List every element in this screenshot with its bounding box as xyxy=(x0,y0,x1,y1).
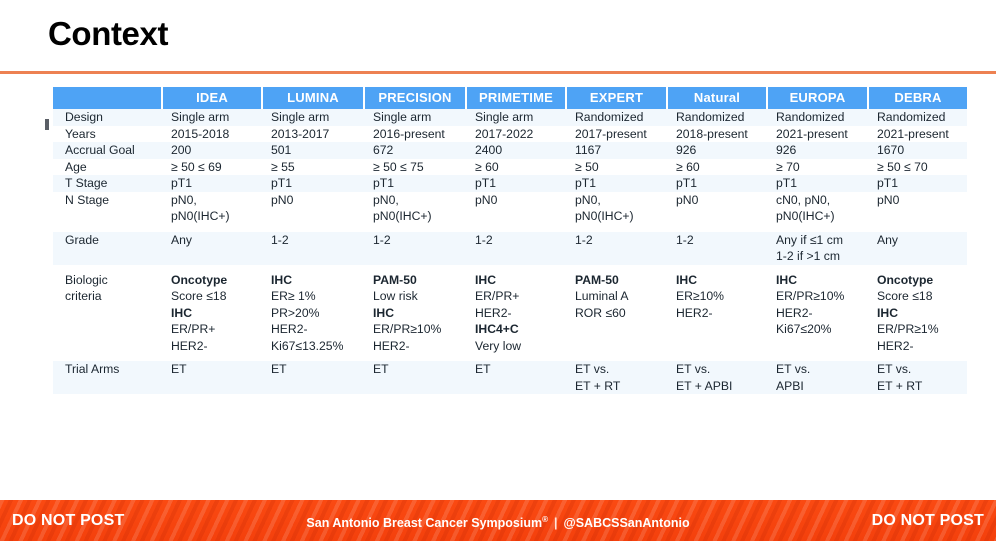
table-row: N StagepN0,pN0(IHC+)pN0pN0,pN0(IHC+)pN0p… xyxy=(53,192,967,225)
column-header-europa[interactable]: EUROPA xyxy=(768,87,869,109)
column-header-idea[interactable]: IDEA xyxy=(163,87,263,109)
spacer-cell xyxy=(53,265,967,272)
cell-grade-lumina: 1-2 xyxy=(263,232,365,265)
cell-years-expert: 2017-present xyxy=(567,126,668,143)
cell-biologic-criteria-debra: OncotypeScore ≤18IHCER/PR≥1%HER2- xyxy=(869,272,967,355)
cell-t-stage-lumina: pT1 xyxy=(263,175,365,192)
cell-trial-arms-primetime: ET xyxy=(467,361,567,394)
context-table-container: IDEA LUMINA PRECISION PRIMETIME EXPERT N… xyxy=(53,87,943,394)
cell-n-stage-precision: pN0,pN0(IHC+) xyxy=(365,192,467,225)
cell-trial-arms-debra: ET vs.ET + RT xyxy=(869,361,967,394)
title-divider xyxy=(0,71,996,74)
cell-n-stage-natural: pN0 xyxy=(668,192,768,225)
column-header-expert[interactable]: EXPERT xyxy=(567,87,668,109)
cell-years-idea: 2015-2018 xyxy=(163,126,263,143)
table-row: T StagepT1pT1pT1pT1pT1pT1pT1pT1 xyxy=(53,175,967,192)
footer-bar: DO NOT POST San Antonio Breast Cancer Sy… xyxy=(0,500,996,541)
cell-age-precision: ≥ 50 ≤ 75 xyxy=(365,159,467,176)
column-header-lumina[interactable]: LUMINA xyxy=(263,87,365,109)
cell-n-stage-idea: pN0,pN0(IHC+) xyxy=(163,192,263,225)
column-header-primetime[interactable]: PRIMETIME xyxy=(467,87,567,109)
cell-design-lumina: Single arm xyxy=(263,109,365,126)
cell-age-expert: ≥ 50 xyxy=(567,159,668,176)
cell-t-stage-natural: pT1 xyxy=(668,175,768,192)
cell-years-europa: 2021-present xyxy=(768,126,869,143)
cell-accrual-goal-debra: 1670 xyxy=(869,142,967,159)
cell-biologic-criteria-natural: IHCER≥10%HER2- xyxy=(668,272,768,355)
cell-age-debra: ≥ 50 ≤ 70 xyxy=(869,159,967,176)
table-row: Years2015-20182013-20172016-present2017-… xyxy=(53,126,967,143)
row-label-years: Years xyxy=(53,126,163,143)
cell-t-stage-idea: pT1 xyxy=(163,175,263,192)
cell-years-precision: 2016-present xyxy=(365,126,467,143)
cell-trial-arms-europa: ET vs.APBI xyxy=(768,361,869,394)
cell-grade-debra: Any xyxy=(869,232,967,265)
row-label-design: Design xyxy=(53,109,163,126)
do-not-post-right: DO NOT POST xyxy=(872,512,984,530)
cell-t-stage-primetime: pT1 xyxy=(467,175,567,192)
cell-accrual-goal-europa: 926 xyxy=(768,142,869,159)
table-header: IDEA LUMINA PRECISION PRIMETIME EXPERT N… xyxy=(53,87,967,109)
table-row: Age≥ 50 ≤ 69≥ 55≥ 50 ≤ 75≥ 60≥ 50≥ 60≥ 7… xyxy=(53,159,967,176)
cell-t-stage-europa: pT1 xyxy=(768,175,869,192)
spacer-cell xyxy=(53,354,967,361)
row-selection-marker xyxy=(45,119,49,130)
column-header-precision[interactable]: PRECISION xyxy=(365,87,467,109)
cell-accrual-goal-expert: 1167 xyxy=(567,142,668,159)
cell-trial-arms-expert: ET vs.ET + RT xyxy=(567,361,668,394)
table-row: DesignSingle armSingle armSingle armSing… xyxy=(53,109,967,126)
cell-t-stage-expert: pT1 xyxy=(567,175,668,192)
column-header-natural[interactable]: Natural xyxy=(668,87,768,109)
row-label-age: Age xyxy=(53,159,163,176)
table-row: GradeAny1-21-21-21-21-2Any if ≤1 cm1-2 i… xyxy=(53,232,967,265)
column-header-label xyxy=(53,87,163,109)
cell-n-stage-expert: pN0,pN0(IHC+) xyxy=(567,192,668,225)
cell-n-stage-lumina: pN0 xyxy=(263,192,365,225)
cell-n-stage-primetime: pN0 xyxy=(467,192,567,225)
page-title: Context xyxy=(48,16,168,52)
row-label-biologic-criteria: Biologiccriteria xyxy=(53,272,163,355)
row-label-grade: Grade xyxy=(53,232,163,265)
trials-comparison-table: IDEA LUMINA PRECISION PRIMETIME EXPERT N… xyxy=(53,87,967,394)
cell-grade-idea: Any xyxy=(163,232,263,265)
cell-age-idea: ≥ 50 ≤ 69 xyxy=(163,159,263,176)
cell-biologic-criteria-expert: PAM-50Luminal AROR ≤60 xyxy=(567,272,668,355)
cell-n-stage-europa: cN0, pN0,pN0(IHC+) xyxy=(768,192,869,225)
row-label-n-stage: N Stage xyxy=(53,192,163,225)
cell-design-primetime: Single arm xyxy=(467,109,567,126)
cell-years-lumina: 2013-2017 xyxy=(263,126,365,143)
cell-design-natural: Randomized xyxy=(668,109,768,126)
cell-design-expert: Randomized xyxy=(567,109,668,126)
cell-t-stage-debra: pT1 xyxy=(869,175,967,192)
table-row-spacer xyxy=(53,225,967,232)
cell-accrual-goal-primetime: 2400 xyxy=(467,142,567,159)
table-body: DesignSingle armSingle armSingle armSing… xyxy=(53,109,967,394)
cell-design-precision: Single arm xyxy=(365,109,467,126)
cell-design-idea: Single arm xyxy=(163,109,263,126)
cell-design-europa: Randomized xyxy=(768,109,869,126)
table-row: Trial ArmsETETETETET vs.ET + RTET vs.ET … xyxy=(53,361,967,394)
cell-accrual-goal-natural: 926 xyxy=(668,142,768,159)
cell-grade-natural: 1-2 xyxy=(668,232,768,265)
cell-accrual-goal-lumina: 501 xyxy=(263,142,365,159)
table-row: Accrual Goal200501672240011679269261670 xyxy=(53,142,967,159)
cell-n-stage-debra: pN0 xyxy=(869,192,967,225)
cell-biologic-criteria-lumina: IHCER≥ 1%PR>20%HER2-Ki67≤13.25% xyxy=(263,272,365,355)
column-header-debra[interactable]: DEBRA xyxy=(869,87,967,109)
symposium-name: San Antonio Breast Cancer Symposium xyxy=(306,516,542,530)
cell-biologic-criteria-precision: PAM-50Low riskIHCER/PR≥10%HER2- xyxy=(365,272,467,355)
cell-trial-arms-precision: ET xyxy=(365,361,467,394)
cell-years-debra: 2021-present xyxy=(869,126,967,143)
footer-separator: | xyxy=(548,516,564,530)
table-row-spacer xyxy=(53,265,967,272)
social-handle: @SABCSSanAntonio xyxy=(564,516,690,530)
row-label-accrual-goal: Accrual Goal xyxy=(53,142,163,159)
cell-design-debra: Randomized xyxy=(869,109,967,126)
cell-age-europa: ≥ 70 xyxy=(768,159,869,176)
cell-years-natural: 2018-present xyxy=(668,126,768,143)
table-row: BiologiccriteriaOncotypeScore ≤18IHCER/P… xyxy=(53,272,967,355)
cell-biologic-criteria-europa: IHCER/PR≥10%HER2-Ki67≤20% xyxy=(768,272,869,355)
table-row-spacer xyxy=(53,354,967,361)
cell-age-primetime: ≥ 60 xyxy=(467,159,567,176)
cell-age-lumina: ≥ 55 xyxy=(263,159,365,176)
row-label-t-stage: T Stage xyxy=(53,175,163,192)
cell-grade-precision: 1-2 xyxy=(365,232,467,265)
row-label-trial-arms: Trial Arms xyxy=(53,361,163,394)
cell-age-natural: ≥ 60 xyxy=(668,159,768,176)
cell-grade-europa: Any if ≤1 cm1-2 if >1 cm xyxy=(768,232,869,265)
spacer-cell xyxy=(53,225,967,232)
cell-trial-arms-natural: ET vs.ET + APBI xyxy=(668,361,768,394)
cell-accrual-goal-idea: 200 xyxy=(163,142,263,159)
cell-accrual-goal-precision: 672 xyxy=(365,142,467,159)
cell-trial-arms-lumina: ET xyxy=(263,361,365,394)
cell-t-stage-precision: pT1 xyxy=(365,175,467,192)
cell-trial-arms-idea: ET xyxy=(163,361,263,394)
cell-grade-primetime: 1-2 xyxy=(467,232,567,265)
footer-credit: San Antonio Breast Cancer Symposium®|@SA… xyxy=(0,515,996,530)
cell-grade-expert: 1-2 xyxy=(567,232,668,265)
cell-years-primetime: 2017-2022 xyxy=(467,126,567,143)
table-header-row: IDEA LUMINA PRECISION PRIMETIME EXPERT N… xyxy=(53,87,967,109)
cell-biologic-criteria-idea: OncotypeScore ≤18IHCER/PR+HER2- xyxy=(163,272,263,355)
cell-biologic-criteria-primetime: IHCER/PR+HER2-IHC4+CVery low xyxy=(467,272,567,355)
